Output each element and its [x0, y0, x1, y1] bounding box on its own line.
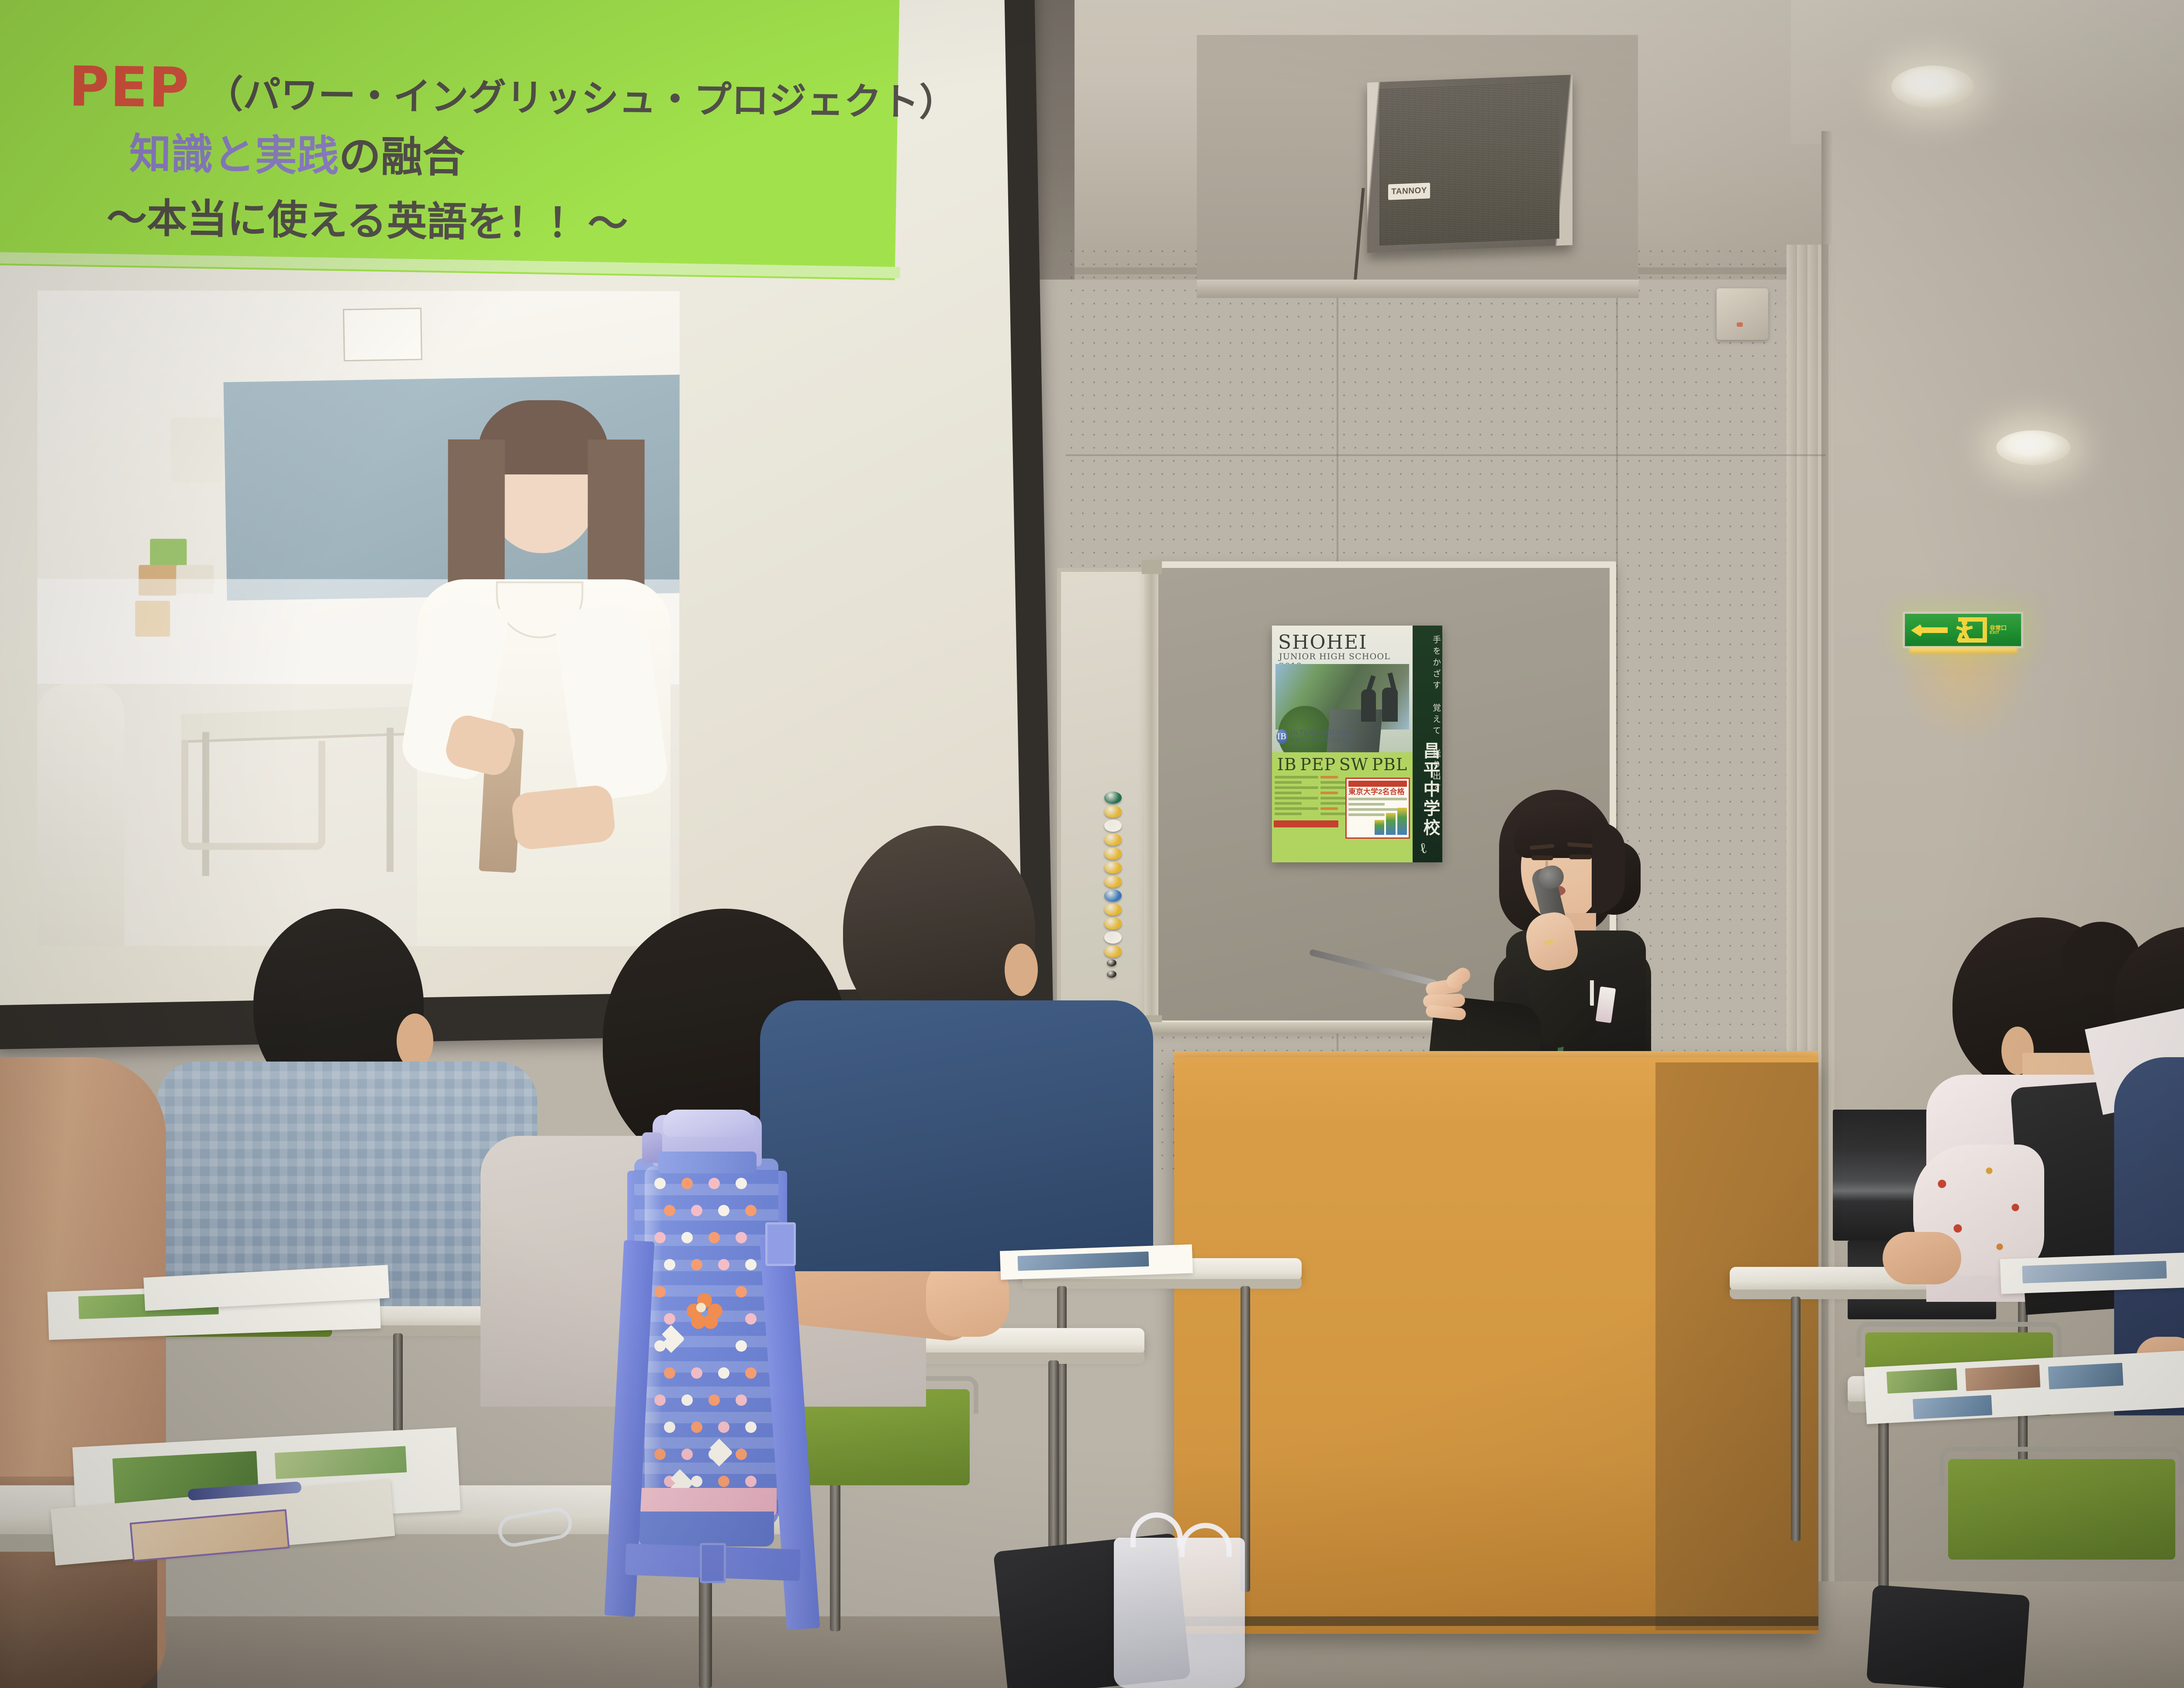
attendee-man-navy-polo [743, 826, 1179, 1263]
poster-results-line-2 [1348, 803, 1385, 806]
brochure-right-front-photo-3 [2048, 1363, 2123, 1390]
ceiling-downlight-2 [1996, 430, 2070, 465]
poster-red-banner [1274, 820, 1338, 827]
presenter-eye-left [1531, 855, 1553, 860]
brochure-right-front-photo-2 [1965, 1365, 2040, 1391]
slide-line2-highlight: 知識と実践 [129, 129, 339, 180]
poster-bar-3 [1397, 808, 1407, 835]
whiteboard-magnet[interactable] [1104, 792, 1122, 804]
poster-upper-half: SHOHEI JUNIOR HIGH SCHOOL 2019 IB INTERN… [1272, 626, 1413, 752]
exit-door-icon [1951, 616, 1989, 643]
bottle-dot [654, 1286, 666, 1297]
bottle-dot [664, 1476, 675, 1487]
poster-program-list: IBPEPSWPBL [1272, 752, 1413, 774]
bottle-lid[interactable] [663, 1110, 755, 1137]
brochure-right-front-photo-4 [1913, 1395, 1992, 1419]
bottle-dot [736, 1232, 747, 1243]
presenter [1428, 782, 1647, 1062]
bottle-dot [708, 1394, 720, 1406]
poster-program-item: IB [1277, 755, 1297, 774]
bottle-dot [708, 1178, 720, 1189]
poster-school-name: SHOHEI [1278, 633, 1367, 652]
bottle-dot [654, 1394, 666, 1406]
bottle-dot [736, 1449, 747, 1460]
bottle-dot [691, 1259, 702, 1270]
poster-program-item: PBL [1372, 755, 1407, 774]
poster-main-face: SHOHEI JUNIOR HIGH SCHOOL 2019 IB INTERN… [1272, 626, 1413, 862]
bottle-dot [736, 1178, 747, 1189]
presenter-pocket-pen [1590, 980, 1594, 1006]
exit-sign-light-spill [1894, 652, 2034, 744]
slide-title-line-3: 〜本当に使える英語を！！〜 [107, 186, 810, 252]
poster-side-logo-icon: ℓ [1418, 839, 1428, 858]
desk-right-back-leg-1 [1791, 1297, 1800, 1541]
attendee-4-arm [1883, 1232, 1961, 1284]
presenter-hand-left [1423, 969, 1489, 1030]
presenter-finger-3 [1425, 1004, 1466, 1020]
slide-acronym: PEP [69, 55, 190, 120]
poster-results-line-1 [1348, 798, 1407, 800]
bottle-dot [681, 1232, 693, 1243]
slide-photo-chair [181, 740, 325, 850]
bottle-dot [664, 1313, 675, 1325]
poster-ib-caption: INTERNATIONAL BACCALAUREATE [1290, 730, 1386, 744]
bottle-dot [718, 1422, 729, 1433]
bottle-dot [736, 1286, 747, 1297]
poster-results-header [1348, 781, 1407, 787]
exit-label-jp: 非常口 [1990, 625, 2007, 631]
poster-program-item: PEP [1300, 755, 1336, 774]
slide-photo-student [339, 343, 671, 947]
running-person-icon [1956, 620, 1973, 641]
bottle-pattern [652, 1175, 761, 1507]
ceiling-downlight-1 [1891, 66, 1974, 108]
speaker-shelf-ledge [1197, 280, 1639, 298]
bottle-dot [654, 1449, 666, 1460]
bottle-dot [691, 1367, 702, 1379]
water-bottle[interactable] [634, 1110, 778, 1555]
bottle-dot [691, 1422, 702, 1433]
poster-col-1 [1275, 776, 1318, 818]
attendee-3-ear [1005, 944, 1038, 996]
bottle-dot [664, 1259, 675, 1270]
brochure-right-front-photo-1 [1887, 1368, 1957, 1394]
sensor-led-icon [1737, 322, 1743, 327]
bottle-heart-icon [667, 1330, 685, 1348]
bottle-dot [745, 1476, 757, 1487]
bottle-strap-clip-top[interactable] [765, 1222, 796, 1266]
podium-base-shadow [1174, 1616, 1818, 1626]
slide-student-hand-right [511, 784, 616, 851]
wall-corner-shadow [1821, 131, 1833, 1688]
bottle-dot [736, 1340, 747, 1352]
chair-right-front-rail [1939, 1447, 2184, 1486]
poster-ib-row: IB INTERNATIONAL BACCALAUREATE [1276, 729, 1386, 744]
bottle-dot [745, 1367, 757, 1379]
bottle-dot [745, 1313, 757, 1325]
slide-photo-cube-green [150, 539, 187, 566]
attendee-1-ear [397, 1013, 433, 1069]
speaker-grille-icon [1379, 82, 1559, 246]
bottle-dot [736, 1394, 747, 1406]
slide-student-hair-back [339, 343, 671, 344]
slide-photo-second-student [37, 684, 125, 946]
slide-acronym-reading: （パワー・イングリッシュ・プロジェクト） [205, 73, 957, 125]
ceiling-soffit [1791, 0, 2184, 144]
bottle-neck [658, 1152, 757, 1173]
bottle-dot [745, 1205, 757, 1216]
whiteboard-magnet[interactable] [1104, 806, 1122, 818]
bottle-dot [745, 1422, 757, 1433]
presentation-room-photo: TANNOY 非常口 EXIT PEP （パワー・イングリッシ [0, 0, 2184, 1688]
poster-lower-half: IBPEPSWPBL [1272, 752, 1413, 862]
chair-right-back-rail [1856, 1322, 2062, 1357]
bottle-dot [654, 1232, 666, 1243]
poster-bar-1 [1375, 820, 1384, 835]
floor-bag-right [1866, 1585, 2030, 1688]
slide-title-line-2: 知識と実践の融合 [129, 120, 811, 188]
bottle-dot [718, 1367, 729, 1379]
bottle-dot [681, 1394, 693, 1406]
slide-photo-wall-fixture [171, 417, 223, 483]
exit-arrow-left-icon [1909, 621, 1951, 639]
slide-line2-rest: の融合 [339, 132, 465, 182]
poster-results-line-4 [1348, 813, 1385, 816]
slide-classroom-photo [37, 291, 680, 946]
poster-results-panel: 東京大学2名合格 [1345, 778, 1410, 839]
school-poster: SHOHEI JUNIOR HIGH SCHOOL 2019 IB INTERN… [1272, 626, 1442, 862]
whiteboard-hinge-cap-top [1142, 560, 1162, 574]
exit-label-en: EXIT [1990, 631, 2007, 635]
exit-sign-underglow [1910, 647, 2017, 654]
poster-bar-2 [1386, 813, 1396, 835]
exit-sign-label: 非常口 EXIT [1990, 625, 2007, 635]
wall-sensor-unit [1717, 288, 1768, 340]
ib-globe-icon: IB [1276, 729, 1287, 744]
bottle-dot [664, 1367, 675, 1379]
poster-campus-photo [1275, 664, 1409, 730]
speaker-brand-badge: TANNOY [1388, 183, 1430, 200]
bottle-dot [681, 1449, 693, 1460]
bottle-dot [691, 1476, 702, 1487]
bottle-dot [708, 1232, 720, 1243]
bottle-dot [718, 1476, 729, 1487]
poster-program-item: SW [1339, 755, 1368, 774]
bottle-dot [691, 1205, 702, 1216]
bottle-strap-buckle[interactable] [700, 1543, 726, 1583]
poster-student-2 [1382, 688, 1398, 722]
presenter-eye-right [1569, 854, 1592, 859]
bottle-dot [718, 1259, 729, 1270]
emergency-exit-sign: 非常口 EXIT [1903, 612, 2023, 648]
bottle-dot [745, 1259, 757, 1270]
bottle-dot [654, 1340, 666, 1352]
attendee-3-torso [760, 1000, 1153, 1271]
bottle-dot [664, 1205, 675, 1216]
poster-results-highlight: 東京大学2名合格 [1348, 788, 1407, 796]
plastic-bag [1114, 1538, 1245, 1688]
attendee-person-blue-top [2088, 926, 2184, 1407]
bottle-dot [681, 1178, 693, 1189]
bottle-dot [664, 1422, 675, 1433]
bottle-base [639, 1512, 774, 1546]
wall-panel-seam-h [1066, 454, 1826, 456]
bottle-dot [654, 1178, 666, 1189]
slide-title-line-1: PEP （パワー・イングリッシュ・プロジェクト） [69, 58, 812, 125]
bottle-dot [718, 1205, 729, 1216]
slide-title-block: PEP （パワー・イングリッシュ・プロジェクト） 知識と実践の融合 〜本当に使え… [67, 58, 812, 252]
bottle-flower-large-icon [687, 1293, 722, 1329]
